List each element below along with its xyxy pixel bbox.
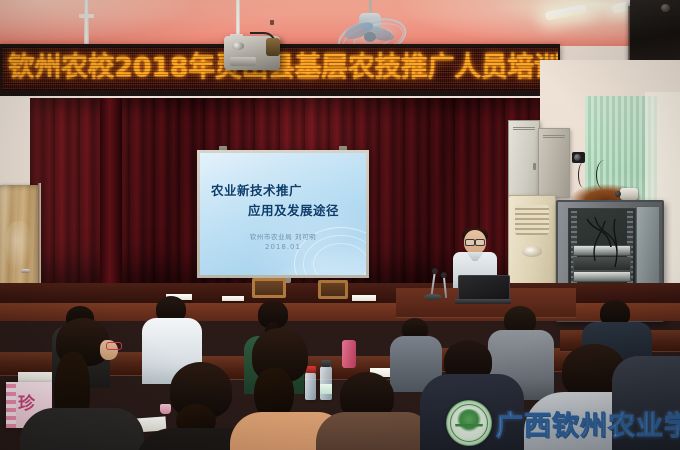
watermark-text: 广西钦州农业学校: [496, 404, 680, 443]
led-banner-screen: 钦州农校2018年灵山县基层农技推广人员培训班: [2, 47, 558, 90]
electrical-cabinet: [508, 120, 540, 200]
ac-vent-grille: [515, 205, 549, 235]
photo-scene: 钦州农校2018年灵山县基层农技推广人员培训班: [0, 0, 680, 450]
laptop-screen: [458, 275, 510, 302]
projected-slide: 农业新技术推广 应用及发展途径 钦州市农业局 刘可明 2018.01: [200, 153, 366, 275]
cabinet-label: [513, 126, 535, 130]
ceiling-projector: [224, 36, 280, 70]
slide-title-line-2: 应用及发展途径: [248, 200, 339, 219]
projector-cable-bundle: [266, 38, 280, 56]
curtain-fold: [100, 98, 122, 283]
projector-lens: [232, 42, 244, 50]
door-stain: [6, 221, 32, 271]
camera-on-rack: [620, 188, 638, 200]
bottle-cap: [321, 360, 331, 367]
pink-cup: [160, 404, 171, 414]
laptop[interactable]: [455, 275, 511, 305]
cabinet-label: [543, 134, 565, 138]
microphone-base: [424, 294, 442, 300]
rack-unit: [573, 271, 631, 282]
fan-hub: [364, 32, 376, 42]
electrical-cabinet: [538, 128, 570, 198]
stage-apron: [0, 303, 680, 321]
door-knob[interactable]: [21, 269, 30, 273]
pink-thermos: [342, 340, 356, 368]
cabinet-latch[interactable]: [533, 163, 536, 170]
bag-stripe: [6, 382, 16, 428]
chair-back: [318, 280, 348, 299]
emblem-inner: [455, 409, 483, 437]
bag-character: 珍: [18, 389, 35, 414]
paper-sheet: [222, 296, 244, 301]
ceiling-pipe-bracket: [79, 14, 94, 18]
slide-date: 2018.01: [200, 243, 366, 251]
eyeglasses-icon: [106, 342, 122, 350]
camera-cable: [578, 162, 589, 188]
speaker-mount-knob: [661, 4, 670, 12]
ac-control-knob[interactable]: [522, 246, 542, 257]
laptop-base: [455, 299, 511, 304]
ceiling-light-glow-left: [0, 0, 190, 40]
wall-speaker-icon: [630, 0, 680, 66]
water-bottle: [305, 372, 316, 400]
projection-screen: 农业新技术推广 应用及发展途径 钦州市农业局 刘可明 2018.01: [197, 150, 369, 278]
glasses-icon: [465, 239, 485, 244]
paper-sheet: [352, 295, 376, 301]
led-banner-frame: 钦州农校2018年灵山县基层农技推广人员培训班: [0, 44, 560, 99]
rack-unit: [573, 245, 631, 256]
watermark: 广西钦州农业学校: [446, 398, 678, 448]
bottle-cap: [306, 366, 316, 373]
slide-presenter-line: 钦州市农业局 刘可明: [200, 231, 366, 241]
bottle-label: [320, 384, 332, 394]
water-bottle: [320, 366, 332, 400]
ceiling-pipe: [84, 0, 89, 44]
chair-back: [252, 278, 286, 298]
empty-chair[interactable]: [318, 280, 348, 304]
slide-title-line-1: 农业新技术推广: [211, 180, 302, 199]
rack-unit: [573, 257, 631, 271]
torso: [316, 412, 432, 450]
ceiling-sensor: [270, 20, 274, 25]
projector-mount-pipe: [236, 0, 240, 36]
torso: [20, 408, 144, 450]
projector-lens-housing: [230, 57, 256, 66]
school-emblem-icon: [446, 400, 492, 446]
